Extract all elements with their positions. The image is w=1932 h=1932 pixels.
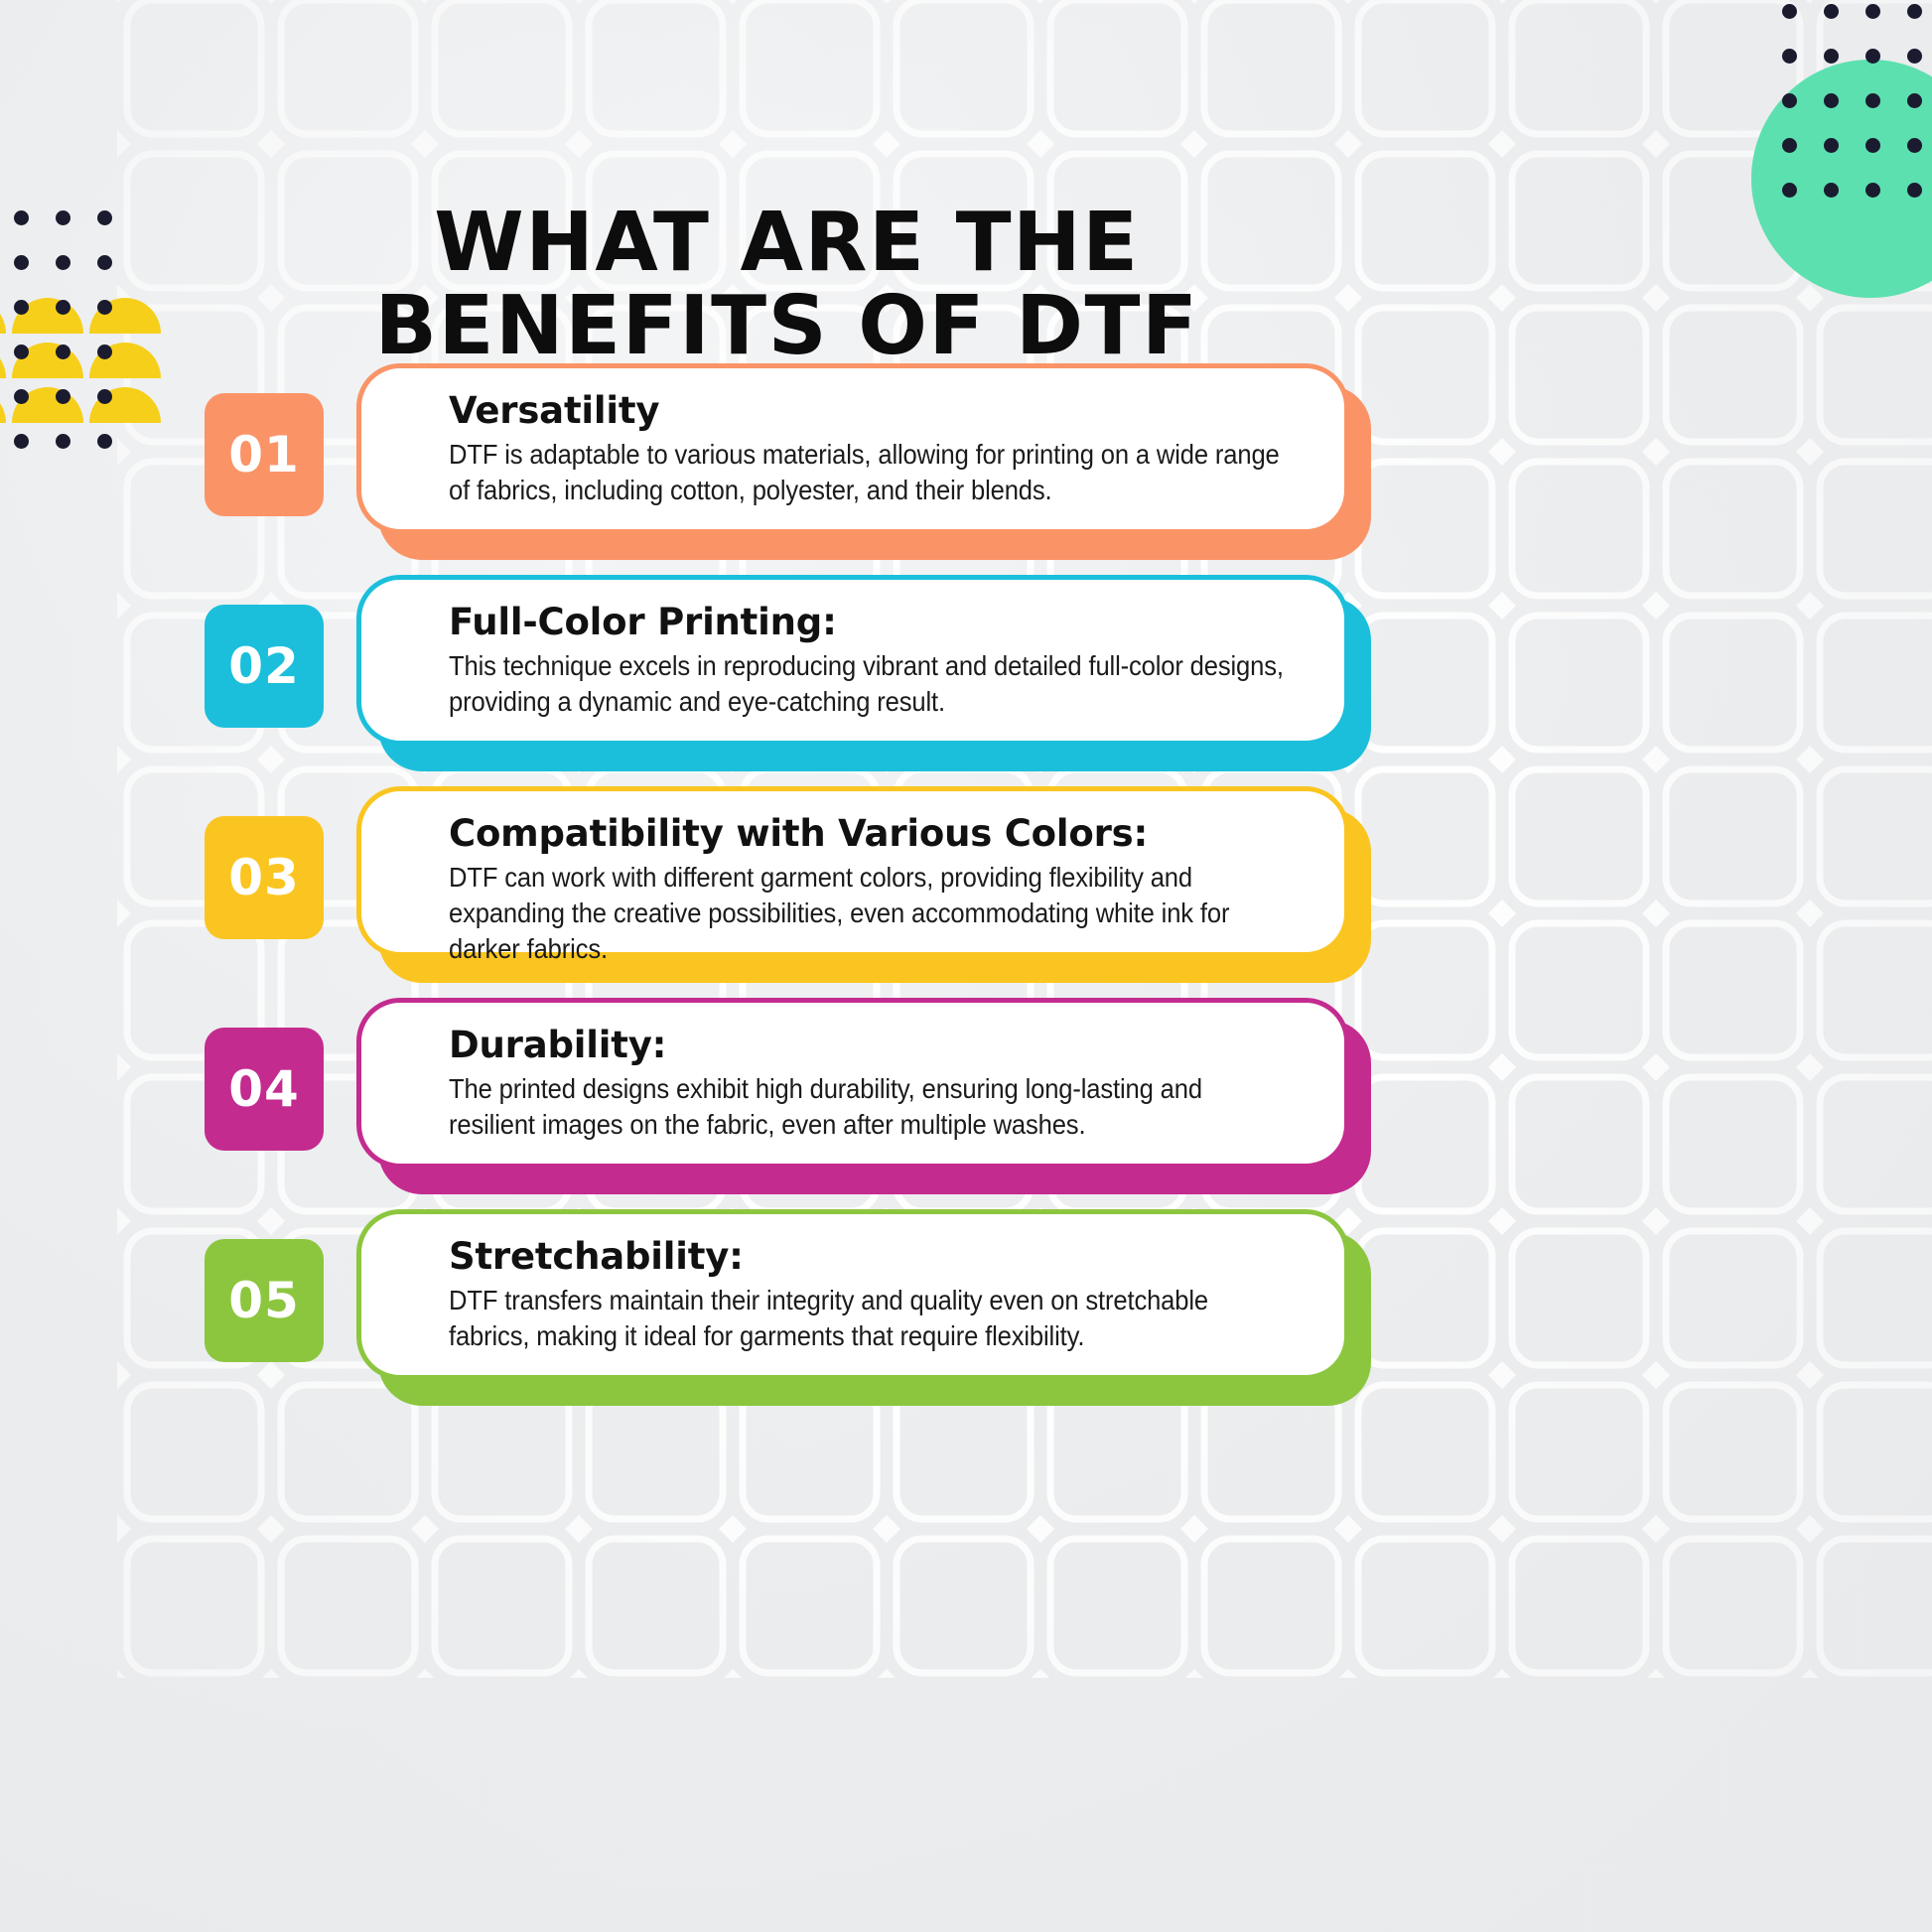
- benefits-list: Versatility DTF is adaptable to various …: [0, 363, 1932, 1421]
- benefit-card[interactable]: Stretchability: DTF transfers maintain t…: [356, 1209, 1349, 1380]
- benefit-row: Durability: The printed designs exhibit …: [0, 998, 1932, 1209]
- benefit-card-wrapper: Durability: The printed designs exhibit …: [356, 998, 1349, 1169]
- benefit-heading: Compatibility with Various Colors:: [449, 813, 1297, 854]
- benefit-card-wrapper: Compatibility with Various Colors: DTF c…: [356, 786, 1349, 957]
- benefit-number: 01: [228, 426, 300, 483]
- benefit-body: DTF is adaptable to various materials, a…: [449, 437, 1293, 508]
- benefit-card[interactable]: Full-Color Printing: This technique exce…: [356, 575, 1349, 746]
- benefit-row: Stretchability: DTF transfers maintain t…: [0, 1209, 1932, 1421]
- benefit-body: The printed designs exhibit high durabil…: [449, 1071, 1293, 1143]
- benefit-number: 02: [228, 637, 300, 695]
- benefit-number-badge: 03: [205, 816, 324, 939]
- benefit-row: Versatility DTF is adaptable to various …: [0, 363, 1932, 575]
- benefit-number: 04: [228, 1060, 300, 1118]
- benefit-card[interactable]: Versatility DTF is adaptable to various …: [356, 363, 1349, 534]
- benefit-body: DTF transfers maintain their integrity a…: [449, 1283, 1293, 1354]
- benefit-number-badge: 04: [205, 1028, 324, 1151]
- benefit-row: Full-Color Printing: This technique exce…: [0, 575, 1932, 786]
- benefit-row: Compatibility with Various Colors: DTF c…: [0, 786, 1932, 998]
- benefit-heading: Full-Color Printing:: [449, 602, 1297, 642]
- benefit-card[interactable]: Compatibility with Various Colors: DTF c…: [356, 786, 1349, 957]
- teal-circle-icon: [1751, 60, 1932, 298]
- infographic-canvas: WHAT ARE THE BENEFITS OF DTF TRANSFERS? …: [0, 0, 1932, 1932]
- benefit-number: 03: [228, 849, 300, 906]
- benefit-card[interactable]: Durability: The printed designs exhibit …: [356, 998, 1349, 1169]
- benefit-card-wrapper: Stretchability: DTF transfers maintain t…: [356, 1209, 1349, 1380]
- benefit-heading: Stretchability:: [449, 1236, 1297, 1277]
- benefit-number: 05: [228, 1272, 300, 1329]
- benefit-card-wrapper: Full-Color Printing: This technique exce…: [356, 575, 1349, 746]
- benefit-body: DTF can work with different garment colo…: [449, 860, 1293, 966]
- benefit-number-badge: 05: [205, 1239, 324, 1362]
- benefit-heading: Durability:: [449, 1025, 1297, 1065]
- benefit-number-badge: 02: [205, 605, 324, 728]
- benefit-number-badge: 01: [205, 393, 324, 516]
- benefit-heading: Versatility: [449, 390, 1297, 431]
- benefit-body: This technique excels in reproducing vib…: [449, 648, 1293, 720]
- benefit-card-wrapper: Versatility DTF is adaptable to various …: [356, 363, 1349, 534]
